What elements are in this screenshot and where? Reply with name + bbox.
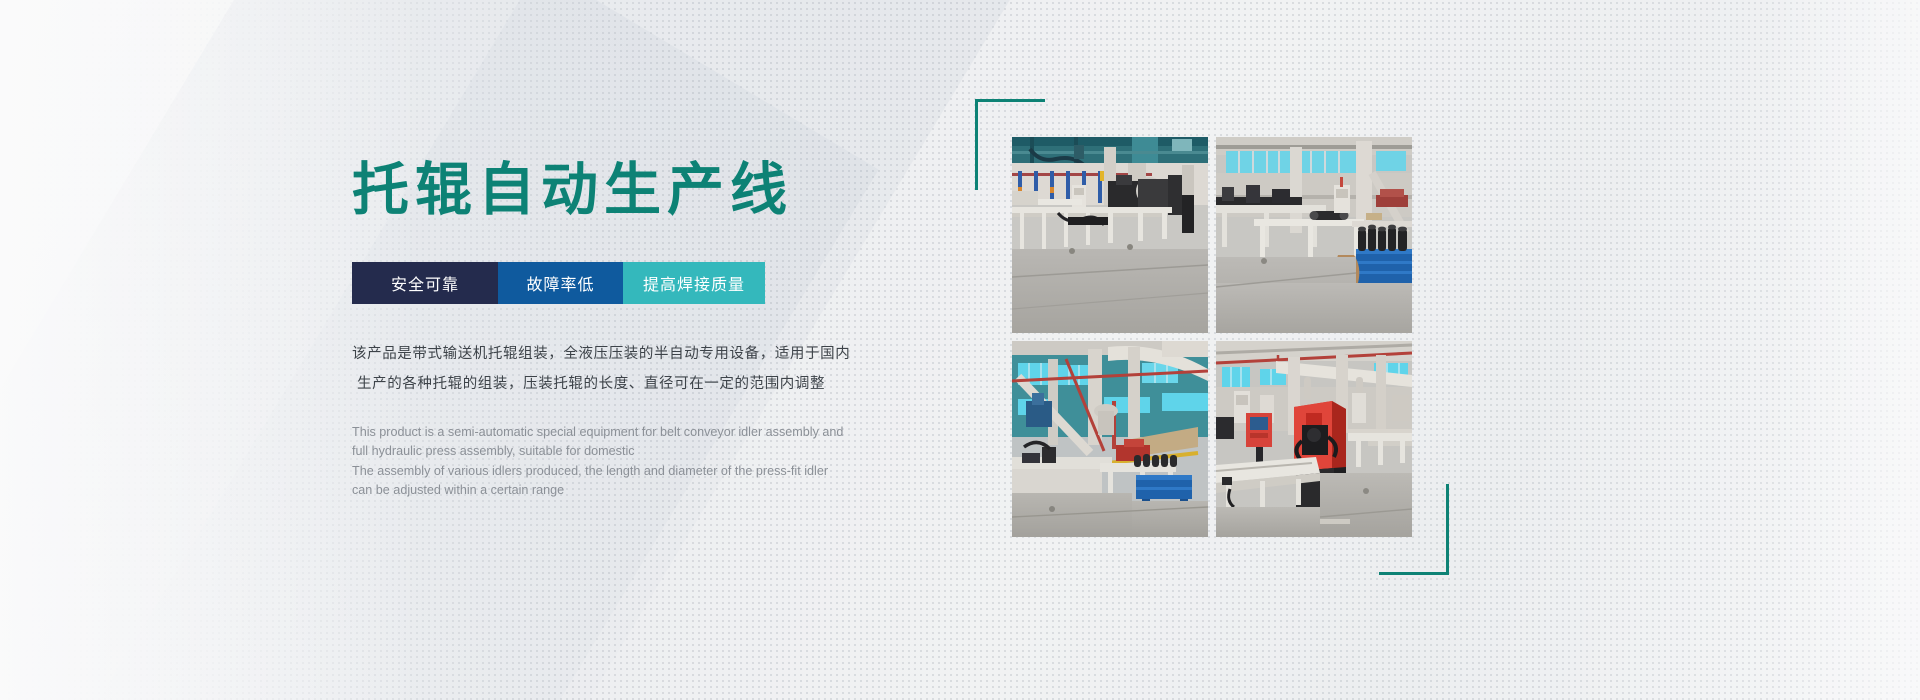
description-english-paragraph-1: This product is a semi-automatic special… [352, 423, 912, 461]
description-english: This product is a semi-automatic special… [352, 423, 912, 500]
banner-text-block: 托辊自动生产线 安全可靠 故障率低 提高焊接质量 该产品是带式输送机托辊组装，全… [352, 162, 952, 500]
gallery-photo-4-image [1216, 341, 1412, 537]
gallery-photo-3[interactable] [1012, 341, 1208, 537]
feature-badge-safety-label: 安全可靠 [391, 271, 459, 295]
background-left-fade [0, 0, 1920, 700]
description-chinese-line-2: 生产的各种托辊的组装，压装托辊的长度、直径可在一定的范围内调整 [352, 369, 912, 399]
photo-gallery [1012, 137, 1412, 537]
background-right-fade [0, 0, 1920, 700]
feature-badge-row: 安全可靠 故障率低 提高焊接质量 [352, 262, 952, 304]
feature-badge-weld-quality[interactable]: 提高焊接质量 [623, 262, 765, 304]
photo-gallery-grid [1012, 137, 1412, 537]
feature-badge-weld-quality-label: 提高焊接质量 [643, 271, 745, 295]
product-banner: 托辊自动生产线 安全可靠 故障率低 提高焊接质量 该产品是带式输送机托辊组装，全… [0, 0, 1920, 700]
gallery-photo-3-image [1012, 341, 1208, 537]
description-chinese-line-1: 该产品是带式输送机托辊组装，全液压压装的半自动专用设备，适用于国内 [352, 339, 912, 369]
gallery-photo-1[interactable] [1012, 137, 1208, 333]
description-english-p1-line-2: full hydraulic press assembly, suitable … [352, 442, 912, 461]
gallery-photo-1-image [1012, 137, 1208, 333]
page-title: 托辊自动生产线 [352, 162, 952, 219]
feature-badge-low-failure[interactable]: 故障率低 [498, 262, 623, 304]
gallery-photo-2-image [1216, 137, 1412, 333]
background-dot-pattern [0, 0, 1920, 700]
gallery-photo-2[interactable] [1216, 137, 1412, 333]
description-english-p2-line-2: can be adjusted within a certain range [352, 481, 912, 500]
description-chinese: 该产品是带式输送机托辊组装，全液压压装的半自动专用设备，适用于国内 生产的各种托… [352, 339, 912, 399]
gallery-photo-4[interactable] [1216, 341, 1412, 537]
description-english-p2-line-1: The assembly of various idlers produced,… [352, 462, 912, 481]
description-english-p1-line-1: This product is a semi-automatic special… [352, 423, 912, 442]
description-english-paragraph-2: The assembly of various idlers produced,… [352, 462, 912, 500]
feature-badge-low-failure-label: 故障率低 [526, 271, 594, 295]
feature-badge-safety[interactable]: 安全可靠 [352, 262, 498, 304]
